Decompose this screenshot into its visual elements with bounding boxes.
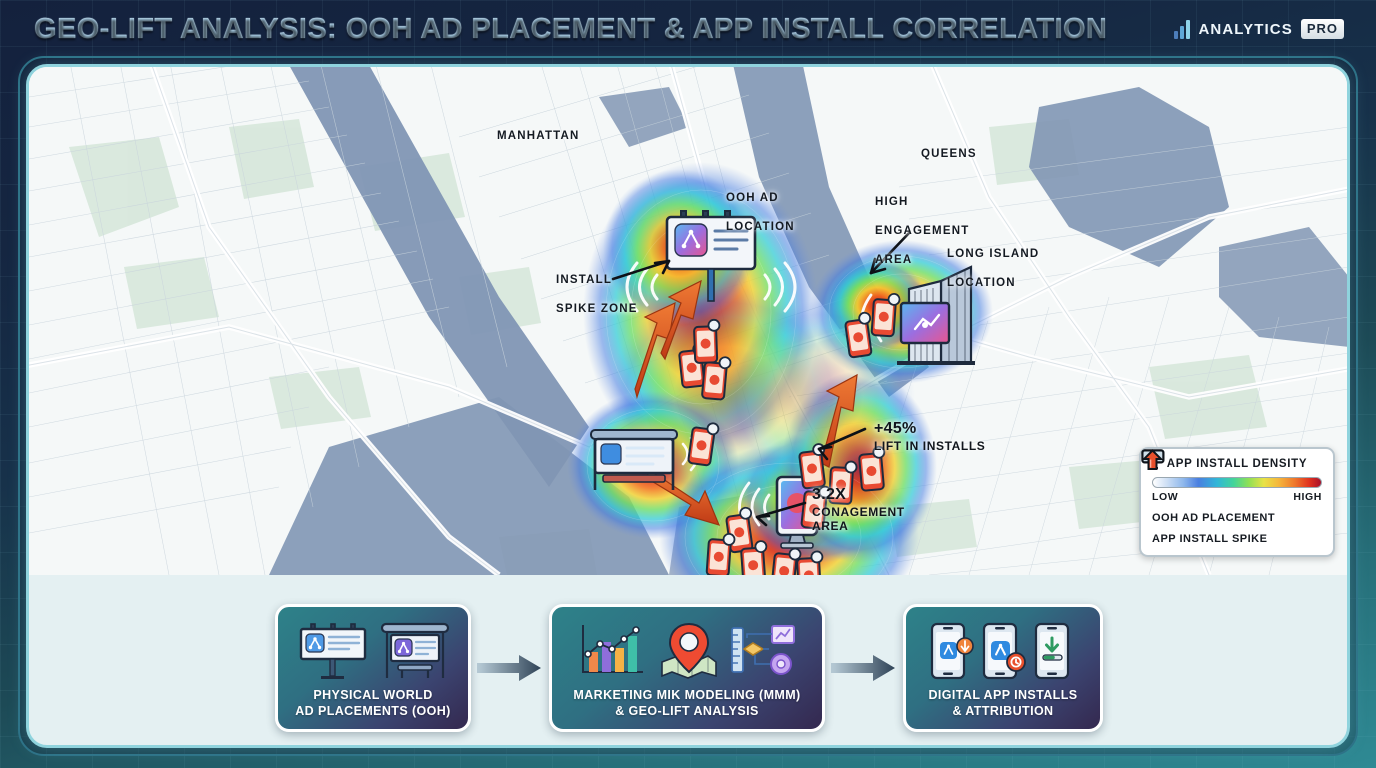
flow-step-icons (577, 618, 797, 680)
flow-step-label: DIGITAL APP INSTALLS & ATTRIBUTION (929, 687, 1078, 720)
metric-label: CONAGEMENT AREA (812, 505, 905, 534)
map-pin-icon (658, 622, 720, 680)
legend-item-label: APP INSTALL SPIKE (1152, 533, 1267, 545)
legend-panel[interactable]: APP INSTALL DENSITY LOW HIGH OOH AD PLAC… (1139, 447, 1335, 557)
flow-arrow-2 (825, 653, 903, 683)
panel-frame: MANHATTAN QUEENS OOH AD LOCATION INSTALL… (18, 56, 1358, 756)
metric-engagement-area: 3.2X CONAGEMENT AREA (812, 485, 905, 534)
flow-step-icons (928, 618, 1078, 680)
density-gradient-bar (1152, 477, 1322, 488)
metric-value: 3.2X (812, 485, 905, 505)
brand-name: ANALYTICS (1198, 21, 1292, 38)
metric-lift-in-installs: +45% LIFT IN INSTALLS (874, 419, 985, 453)
scale-high-label: HIGH (1293, 491, 1322, 503)
right-arrow-icon (831, 653, 897, 683)
bar-chart-icon (577, 622, 649, 680)
panel-inner: MANHATTAN QUEENS OOH AD LOCATION INSTALL… (26, 64, 1350, 748)
flow-step-label: PHYSICAL WORLD AD PLACEMENTS (OOH) (295, 687, 451, 720)
phone-clock-icon (980, 622, 1026, 680)
legend-item-ooh-ad-placement[interactable]: OOH AD PLACEMENT (1152, 512, 1322, 524)
phone-appstore-icon (928, 622, 974, 680)
up-arrow-icon (1141, 449, 1165, 471)
analysis-gear-icon (729, 622, 797, 680)
brand-badge: PRO (1301, 19, 1344, 39)
right-arrow-icon (477, 653, 543, 683)
heatmap-map[interactable]: MANHATTAN QUEENS OOH AD LOCATION INSTALL… (29, 67, 1349, 575)
brand-logo: ANALYTICS PRO (1174, 19, 1344, 39)
flow-arrow-1 (471, 653, 549, 683)
bus-shelter-ad-icon (380, 622, 450, 680)
page-title: GEO-LIFT ANALYSIS: OOH AD PLACEMENT & AP… (34, 13, 1107, 46)
flow-step-icons (297, 618, 450, 680)
legend-title: APP INSTALL DENSITY (1152, 458, 1322, 470)
density-scale: LOW HIGH (1152, 491, 1322, 503)
phone-download-icon (1032, 622, 1078, 680)
bar-chart-icon (1174, 20, 1190, 39)
scale-low-label: LOW (1152, 491, 1178, 503)
header-bar: GEO-LIFT ANALYSIS: OOH AD PLACEMENT & AP… (0, 0, 1376, 58)
process-flow: PHYSICAL WORLD AD PLACEMENTS (OOH) (29, 575, 1349, 748)
billboard-icon (297, 622, 371, 680)
flow-step-digital-app-installs[interactable]: DIGITAL APP INSTALLS & ATTRIBUTION (903, 604, 1103, 733)
flow-step-label: MARKETING MIK MODELING (MMM) & GEO-LIFT … (573, 687, 800, 720)
legend-item-app-install-spike[interactable]: APP INSTALL SPIKE (1152, 533, 1322, 545)
flow-step-marketing-mix-modeling[interactable]: MARKETING MIK MODELING (MMM) & GEO-LIFT … (549, 604, 825, 733)
legend-item-label: OOH AD PLACEMENT (1152, 512, 1275, 524)
flow-step-physical-world-ad-placements[interactable]: PHYSICAL WORLD AD PLACEMENTS (OOH) (275, 604, 471, 733)
infographic-root: GEO-LIFT ANALYSIS: OOH AD PLACEMENT & AP… (0, 0, 1376, 768)
metric-label: LIFT IN INSTALLS (874, 439, 985, 454)
metric-value: +45% (874, 419, 985, 439)
